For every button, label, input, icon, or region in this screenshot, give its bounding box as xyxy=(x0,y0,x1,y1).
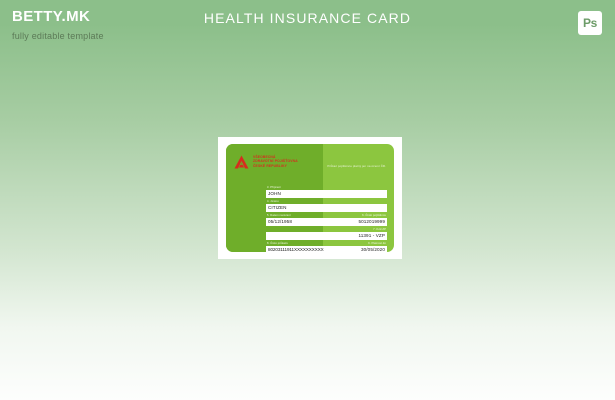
field-input-institution-code[interactable]: 11391 - VZP xyxy=(266,232,387,240)
field-input-card-number[interactable]: 80203111911XXXXXXXXXX 30/05/2020 xyxy=(266,246,387,253)
page-header: BETTY.MK fully editable template HEALTH … xyxy=(0,0,615,56)
field-row-surname: 3. Příjmení JOHN xyxy=(266,185,387,198)
health-insurance-card: VŠEOBECNÁ ZDRAVOTNÍ POJIŠŤOVNA ČESKÉ REP… xyxy=(226,144,394,252)
issuer-name: VŠEOBECNÁ ZDRAVOTNÍ POJIŠŤOVNA ČESKÉ REP… xyxy=(253,155,298,168)
field-label-card-number: 8. Číslo průkazu xyxy=(267,242,288,245)
card-validity-note: Průkaz pojištěnce platný jen na území ČR… xyxy=(327,164,386,168)
photoshop-badge-icon: Ps xyxy=(578,11,602,35)
issuer-name-line-3: ČESKÉ REPUBLIKY xyxy=(253,164,298,168)
field-value-institution-code: 11391 - VZP xyxy=(358,233,385,238)
field-value-card-number: 80203111911XXXXXXXXXX xyxy=(268,247,324,252)
brand-tagline: fully editable template xyxy=(12,31,104,41)
field-label-surname: 3. Příjmení xyxy=(267,186,281,189)
field-value-expiry-date: 30/05/2020 xyxy=(361,247,385,252)
field-value-birth-date: 05/12/1958 xyxy=(268,219,292,224)
field-row-given-name: 4. Jméno CITIZEN xyxy=(266,199,387,212)
vzp-triangle-logo-icon xyxy=(234,155,249,169)
field-label-insurance-number: 6. Číslo pojištěnce xyxy=(362,214,386,217)
field-label-expiry-date: 9. Platnost do xyxy=(368,242,386,245)
field-value-surname: JOHN xyxy=(268,191,281,196)
field-label-institution-code: 7. Kód ZP xyxy=(373,228,386,231)
field-input-surname[interactable]: JOHN xyxy=(266,190,387,198)
issuer-name-line-2: ZDRAVOTNÍ POJIŠŤOVNA xyxy=(253,159,298,163)
field-value-insurance-number: 5012019999 xyxy=(358,219,385,224)
field-input-given-name[interactable]: CITIZEN xyxy=(266,204,387,212)
field-row-card-number: 8. Číslo průkazu 9. Platnost do 80203111… xyxy=(266,241,387,252)
page-title: HEALTH INSURANCE CARD xyxy=(0,10,615,26)
field-row-institution-code: 7. Kód ZP 11391 - VZP xyxy=(266,227,387,240)
field-row-birth-date: 5. Datum narození 6. Číslo pojištěnce 05… xyxy=(266,213,387,226)
field-value-given-name: CITIZEN xyxy=(268,205,287,210)
field-input-birth-date[interactable]: 05/12/1958 5012019999 xyxy=(266,218,387,226)
card-issuer-logo: VŠEOBECNÁ ZDRAVOTNÍ POJIŠŤOVNA ČESKÉ REP… xyxy=(234,155,298,169)
field-label-given-name: 4. Jméno xyxy=(267,200,279,203)
card-fields: 3. Příjmení JOHN 4. Jméno CITIZEN xyxy=(266,185,387,252)
field-label-birth-date: 5. Datum narození xyxy=(267,214,291,217)
card-frame: VŠEOBECNÁ ZDRAVOTNÍ POJIŠŤOVNA ČESKÉ REP… xyxy=(218,137,402,259)
